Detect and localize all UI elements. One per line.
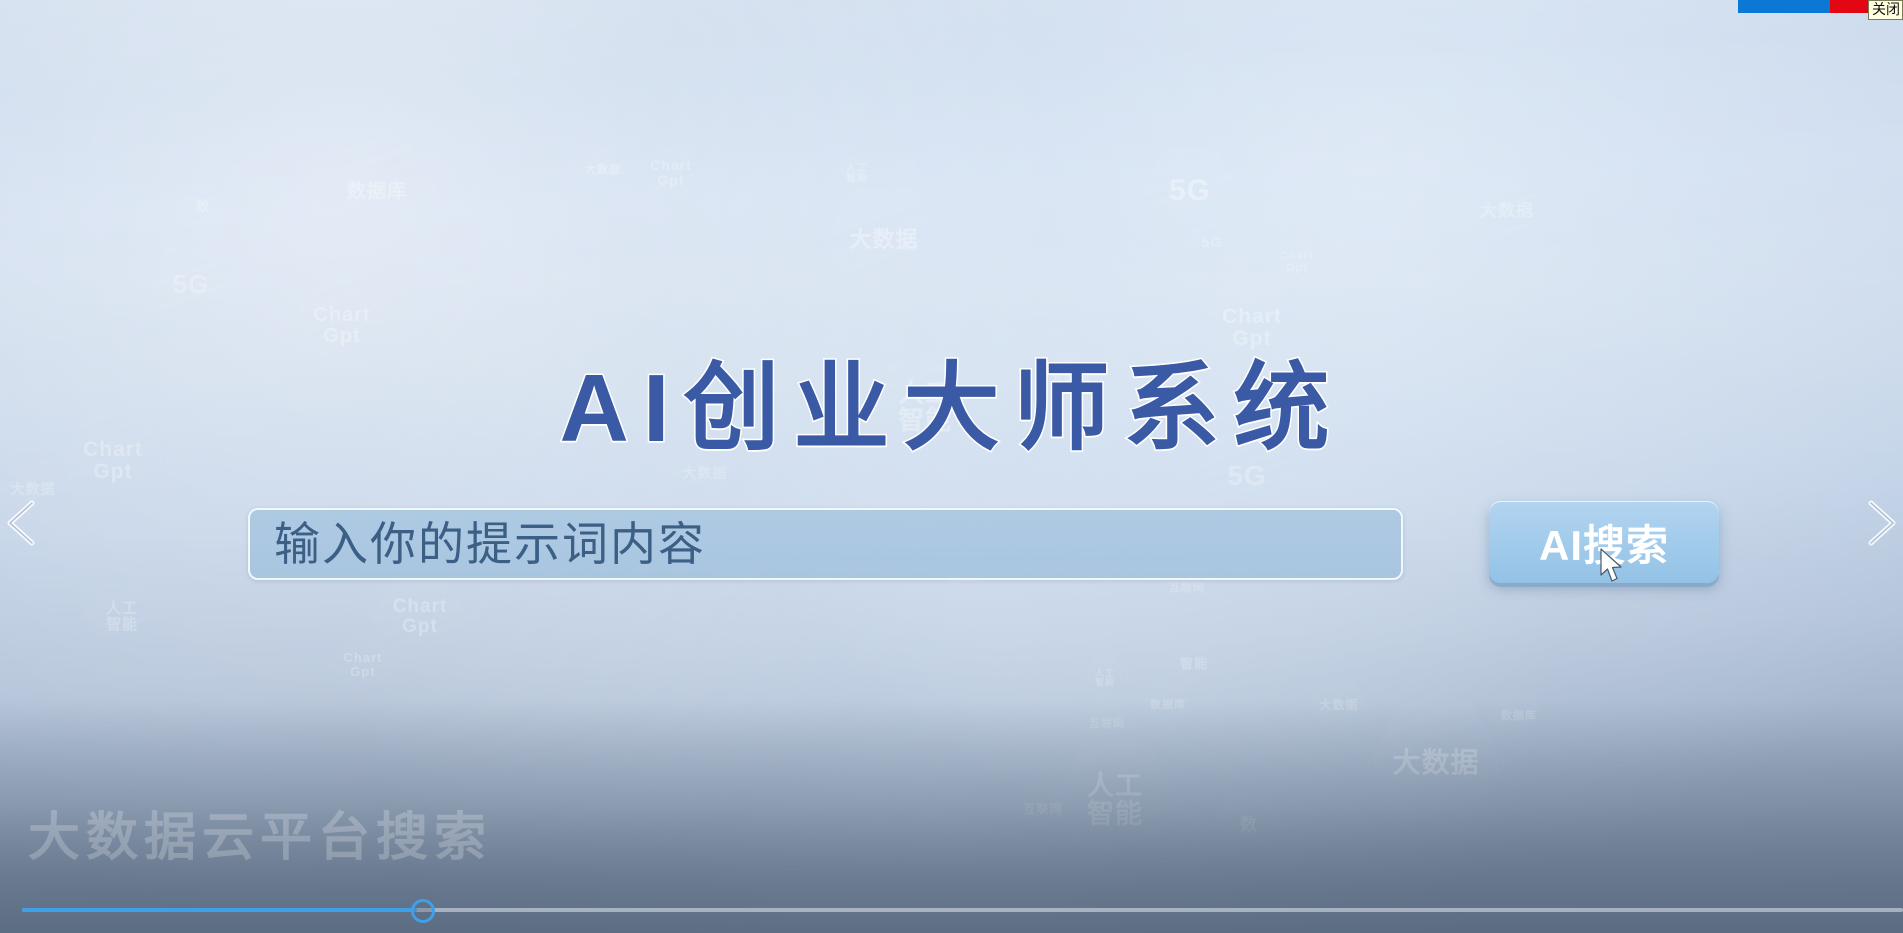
progress-slider[interactable]	[0, 897, 1903, 923]
page-title: AI创业大师系统	[0, 330, 1903, 469]
close-tooltip: 关闭	[1868, 0, 1903, 20]
chrome-blue-bar[interactable]	[1738, 0, 1830, 13]
slider-thumb[interactable]	[411, 899, 435, 923]
carousel-next-icon[interactable]	[1861, 497, 1901, 549]
search-input[interactable]	[248, 508, 1403, 580]
watermark-text: 大数据云平台搜索	[28, 795, 492, 870]
slider-fill	[22, 908, 417, 912]
close-icon[interactable]	[1830, 0, 1868, 13]
carousel-prev-icon[interactable]	[2, 497, 42, 549]
app-screen: 数据库大数据Chart Gpt人工 智能大数据5G大数据数5GChart Gpt…	[0, 0, 1903, 933]
mouse-cursor-icon	[1600, 548, 1626, 586]
window-chrome: 关闭	[1738, 0, 1903, 18]
